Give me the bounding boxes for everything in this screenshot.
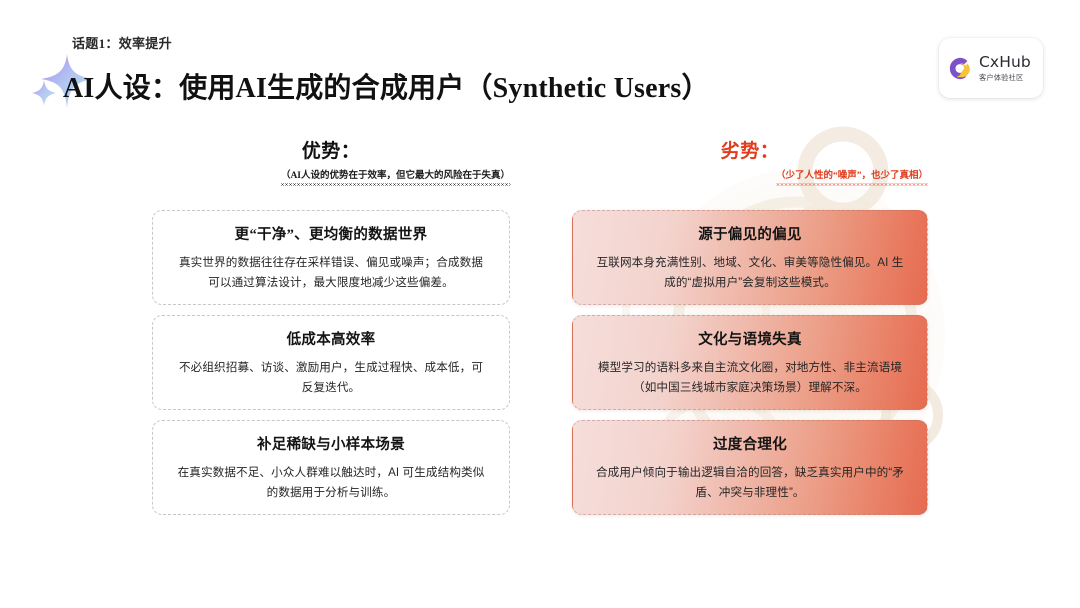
topic-kicker: 话题1：效率提升 xyxy=(72,33,172,52)
pros-card[interactable]: 低成本高效率 不必组织招募、访谈、激励用户，生成过程快、成本低，可反复迭代。 xyxy=(152,315,510,410)
pros-subheading: （AI人设的优势在于效率，但它最大的风险在于失真） xyxy=(281,170,510,185)
cons-card-stack: 源于偏见的偏见 互联网本身充满性别、地域、文化、审美等隐性偏见。AI 生成的“虚… xyxy=(572,210,928,525)
cxhub-logo: CxHub 客户体验社区 xyxy=(939,38,1043,98)
card-title: 源于偏见的偏见 xyxy=(595,225,905,245)
cons-column: 劣势： （少了人性的“噪声”，也少了真相） 源于偏见的偏见 互联网本身充满性别、… xyxy=(572,140,928,185)
cons-card[interactable]: 源于偏见的偏见 互联网本身充满性别、地域、文化、审美等隐性偏见。AI 生成的“虚… xyxy=(572,210,928,305)
slide-header: 话题1：效率提升 AI人设：使用AI生成的合成用户（Synthetic User… xyxy=(0,0,1080,120)
logo-name: CxHub xyxy=(979,55,1031,71)
cons-heading: 劣势： xyxy=(572,140,928,164)
logo-subtitle: 客户体验社区 xyxy=(979,74,1031,81)
cons-card[interactable]: 文化与语境失真 模型学习的语料多来自主流文化圈，对地方性、非主流语境（如中国三线… xyxy=(572,315,928,410)
card-body: 合成用户倾向于输出逻辑自洽的回答，缺乏真实用户中的“矛盾、冲突与非理性”。 xyxy=(595,463,905,503)
card-title: 补足稀缺与小样本场景 xyxy=(175,435,487,455)
card-body: 真实世界的数据往往存在采样错误、偏见或噪声；合成数据可以通过算法设计，最大限度地… xyxy=(175,253,487,293)
card-body: 互联网本身充满性别、地域、文化、审美等隐性偏见。AI 生成的“虚拟用户”会复制这… xyxy=(595,253,905,293)
card-body: 模型学习的语料多来自主流文化圈，对地方性、非主流语境（如中国三线城市家庭决策场景… xyxy=(595,358,905,398)
card-title: 更“干净”、更均衡的数据世界 xyxy=(175,225,487,245)
pros-card[interactable]: 更“干净”、更均衡的数据世界 真实世界的数据往往存在采样错误、偏见或噪声；合成数… xyxy=(152,210,510,305)
pros-card-stack: 更“干净”、更均衡的数据世界 真实世界的数据往往存在采样错误、偏见或噪声；合成数… xyxy=(152,210,510,525)
card-title: 文化与语境失真 xyxy=(595,330,905,350)
pros-heading: 优势： xyxy=(152,140,510,164)
page-title: AI人设：使用AI生成的合成用户（Synthetic Users） xyxy=(63,71,710,107)
card-body: 不必组织招募、访谈、激励用户，生成过程快、成本低，可反复迭代。 xyxy=(175,358,487,398)
cons-card[interactable]: 过度合理化 合成用户倾向于输出逻辑自洽的回答，缺乏真实用户中的“矛盾、冲突与非理… xyxy=(572,420,928,515)
cons-subheading: （少了人性的“噪声”，也少了真相） xyxy=(776,170,928,185)
card-title: 低成本高效率 xyxy=(175,330,487,350)
pros-card[interactable]: 补足稀缺与小样本场景 在真实数据不足、小众人群难以触达时，AI 可生成结构类似的… xyxy=(152,420,510,515)
pros-column: 优势： （AI人设的优势在于效率，但它最大的风险在于失真） 更“干净”、更均衡的… xyxy=(152,140,510,185)
card-body: 在真实数据不足、小众人群难以触达时，AI 可生成结构类似的数据用于分析与训练。 xyxy=(175,463,487,503)
card-title: 过度合理化 xyxy=(595,435,905,455)
cxhub-logo-icon xyxy=(948,56,973,81)
